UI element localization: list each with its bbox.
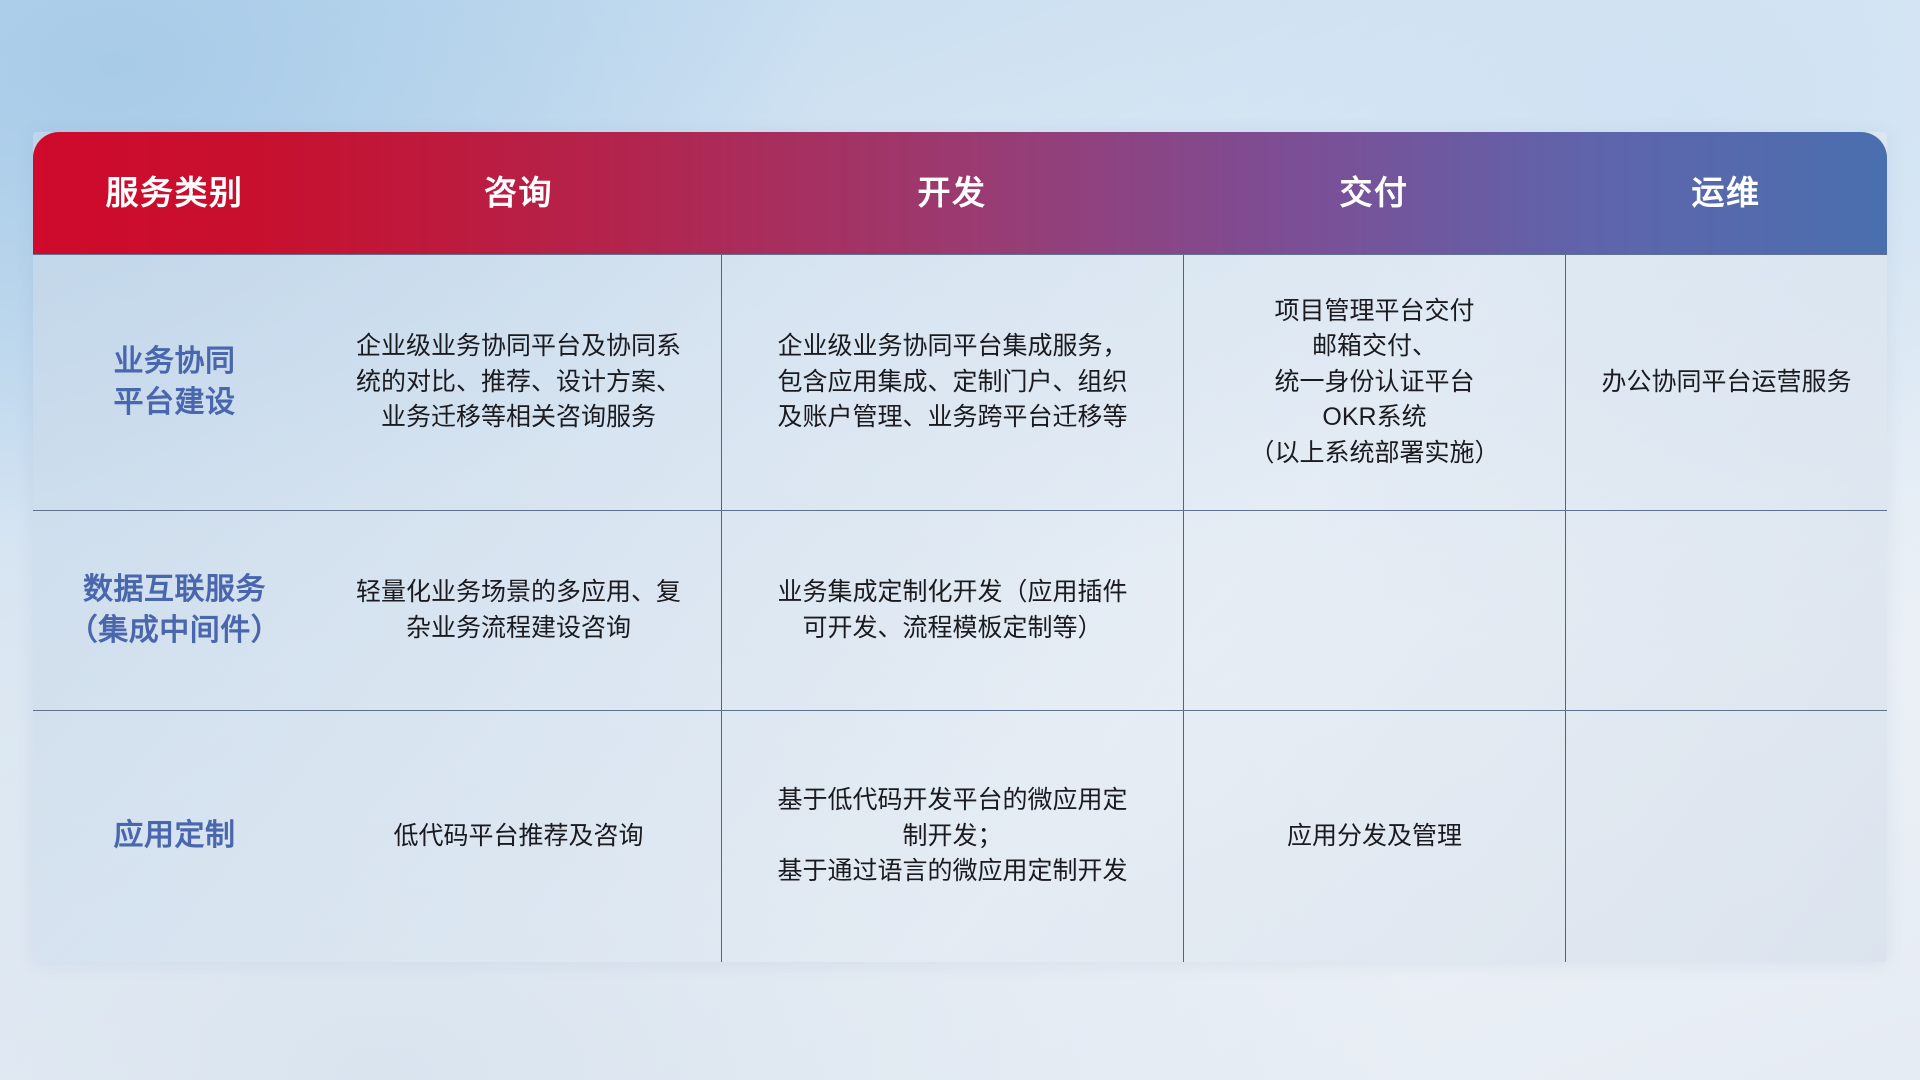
row-category-label: 应用定制 [33, 711, 316, 962]
cell-consulting: 轻量化业务场景的多应用、复 杂业务流程建设咨询 [316, 511, 721, 710]
column-header-development: 开发 [721, 175, 1183, 211]
table-header-row: 服务类别 咨询 开发 交付 运维 [33, 132, 1887, 254]
table-row: 应用定制 低代码平台推荐及咨询 基于低代码开发平台的微应用定 制开发； 基于通过… [33, 710, 1887, 962]
table-body: 业务协同 平台建设 企业级业务协同平台及协同系 统的对比、推荐、设计方案、 业务… [33, 254, 1887, 962]
table-row: 业务协同 平台建设 企业级业务协同平台及协同系 统的对比、推荐、设计方案、 业务… [33, 254, 1887, 510]
row-category-label: 数据互联服务 （集成中间件） [33, 511, 316, 710]
cell-delivery: 项目管理平台交付 邮箱交付、 统一身份认证平台 OKR系统 （以上系统部署实施） [1183, 255, 1565, 510]
page-root: 服务类别 咨询 开发 交付 运维 业务协同 平台建设 企业级业务协同平台及协同系… [0, 0, 1920, 1080]
cell-development: 企业级业务协同平台集成服务， 包含应用集成、定制门户、组织 及账户管理、业务跨平… [721, 255, 1183, 510]
cell-operations [1565, 711, 1887, 962]
cell-operations: 办公协同平台运营服务 [1565, 255, 1887, 510]
cell-consulting: 低代码平台推荐及咨询 [316, 711, 721, 962]
cell-development: 业务集成定制化开发（应用插件 可开发、流程模板定制等） [721, 511, 1183, 710]
service-matrix-table-wrapper: 服务类别 咨询 开发 交付 运维 业务协同 平台建设 企业级业务协同平台及协同系… [33, 132, 1887, 962]
cell-operations [1565, 511, 1887, 710]
cell-development: 基于低代码开发平台的微应用定 制开发； 基于通过语言的微应用定制开发 [721, 711, 1183, 962]
service-matrix-table: 服务类别 咨询 开发 交付 运维 业务协同 平台建设 企业级业务协同平台及协同系… [33, 132, 1887, 962]
cell-consulting: 企业级业务协同平台及协同系 统的对比、推荐、设计方案、 业务迁移等相关咨询服务 [316, 255, 721, 510]
table-row: 数据互联服务 （集成中间件） 轻量化业务场景的多应用、复 杂业务流程建设咨询 业… [33, 510, 1887, 710]
column-header-operations: 运维 [1565, 175, 1887, 211]
cell-delivery [1183, 511, 1565, 710]
row-category-label: 业务协同 平台建设 [33, 255, 316, 510]
column-header-delivery: 交付 [1183, 175, 1565, 211]
column-header-category: 服务类别 [33, 175, 316, 211]
column-header-consulting: 咨询 [316, 175, 721, 211]
cell-delivery: 应用分发及管理 [1183, 711, 1565, 962]
